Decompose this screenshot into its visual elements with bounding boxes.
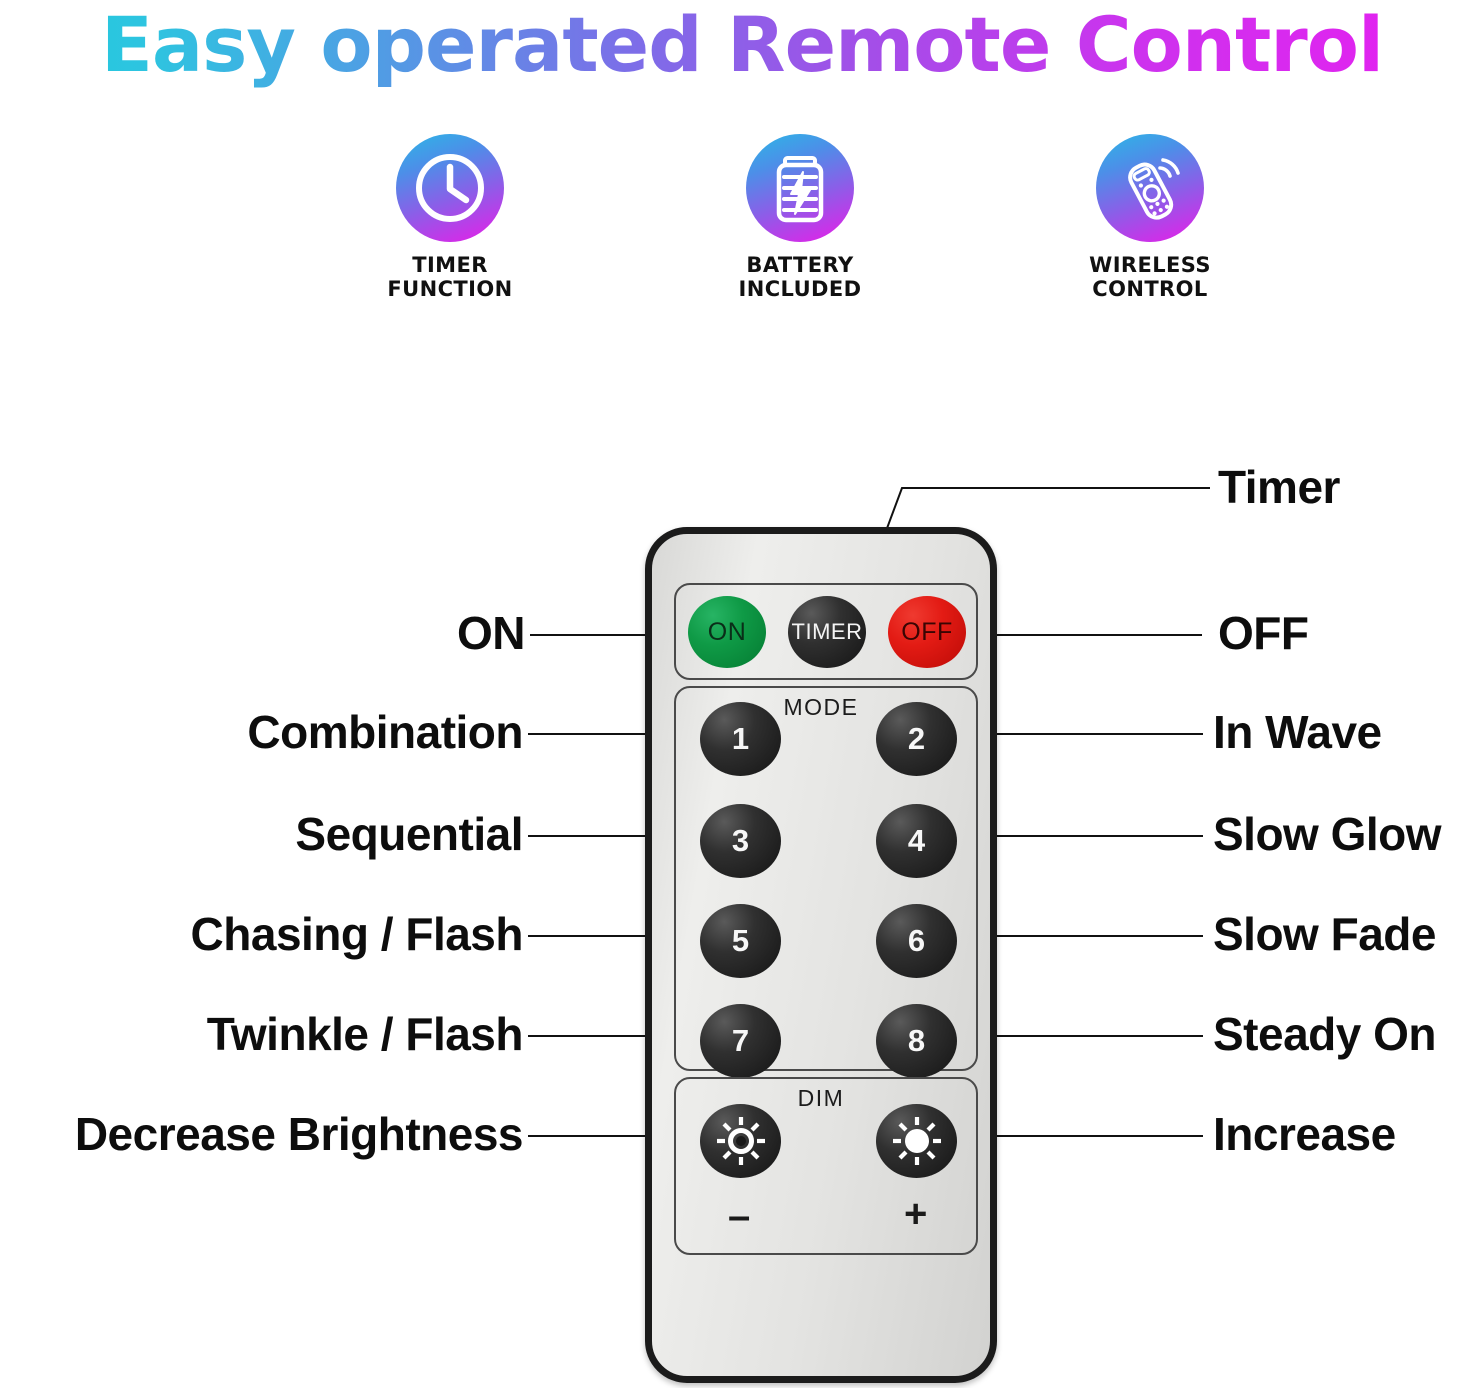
battery-icon <box>746 134 854 242</box>
mode-button-2-label: 2 <box>908 721 925 757</box>
timer-button[interactable]: TIMER <box>788 596 866 668</box>
off-button-label: OFF <box>901 618 953 647</box>
feature-timer-function: TIMER FUNCTION <box>300 134 600 319</box>
page-title: Easy operated Remote Control <box>0 2 1484 88</box>
dim-decrease-button[interactable] <box>700 1104 781 1178</box>
callout-timer: Timer <box>1218 462 1340 512</box>
feature-badges: TIMER FUNCTION BATTERY INCLUDED <box>300 134 1300 319</box>
callout-mode5: Chasing / Flash <box>0 909 523 959</box>
on-button-label: ON <box>708 618 747 647</box>
mode-button-3-label: 3 <box>732 823 749 859</box>
feature-timer-line2: FUNCTION <box>387 277 512 301</box>
callout-mode8: Steady On <box>1213 1009 1436 1059</box>
callout-mode7: Twinkle / Flash <box>0 1009 523 1059</box>
feature-timer-label: TIMER FUNCTION <box>387 253 512 301</box>
dim-plus-sign: + <box>904 1194 927 1234</box>
callout-on: ON <box>0 608 525 658</box>
mode-button-6-label: 6 <box>908 923 925 959</box>
mode-button-3[interactable]: 3 <box>700 804 781 878</box>
callout-dim-up: Increase <box>1213 1109 1396 1159</box>
off-button[interactable]: OFF <box>888 596 966 668</box>
callout-dim-down: Decrease Brightness <box>0 1109 523 1159</box>
callout-mode6: Slow Fade <box>1213 909 1436 959</box>
mode-button-1-label: 1 <box>732 721 749 757</box>
feature-battery-included: BATTERY INCLUDED <box>650 134 950 319</box>
feature-battery-label: BATTERY INCLUDED <box>739 253 862 301</box>
callout-mode3: Sequential <box>0 809 523 859</box>
mode-button-2[interactable]: 2 <box>876 702 957 776</box>
brightness-high-icon <box>891 1115 943 1167</box>
feature-wireless-control: WIRELESS CONTROL <box>1000 134 1300 319</box>
feature-wireless-line1: WIRELESS <box>1089 253 1211 277</box>
timer-button-label: TIMER <box>792 619 863 645</box>
dim-minus-sign: – <box>728 1196 750 1236</box>
mode-button-8-label: 8 <box>908 1023 925 1059</box>
feature-wireless-line2: CONTROL <box>1089 277 1211 301</box>
mode-button-4-label: 4 <box>908 823 925 859</box>
callout-mode4: Slow Glow <box>1213 809 1441 859</box>
feature-wireless-label: WIRELESS CONTROL <box>1089 253 1211 301</box>
clock-icon <box>396 134 504 242</box>
mode-button-5-label: 5 <box>732 923 749 959</box>
dim-increase-button[interactable] <box>876 1104 957 1178</box>
remote-control-body: ON TIMER OFF MODE 1 2 3 4 5 6 7 8 DIM <box>645 527 997 1383</box>
callout-mode2: In Wave <box>1213 707 1382 757</box>
brightness-low-icon <box>715 1115 767 1167</box>
feature-battery-line1: BATTERY <box>739 253 862 277</box>
remote-wireless-icon <box>1096 134 1204 242</box>
callout-off: OFF <box>1218 608 1308 658</box>
mode-button-8[interactable]: 8 <box>876 1004 957 1078</box>
mode-button-7-label: 7 <box>732 1023 749 1059</box>
feature-timer-line1: TIMER <box>387 253 512 277</box>
mode-button-4[interactable]: 4 <box>876 804 957 878</box>
on-button[interactable]: ON <box>688 596 766 668</box>
mode-button-5[interactable]: 5 <box>700 904 781 978</box>
mode-button-6[interactable]: 6 <box>876 904 957 978</box>
dim-section-title: DIM <box>652 1085 990 1112</box>
callout-mode1: Combination <box>0 707 523 757</box>
feature-battery-line2: INCLUDED <box>739 277 862 301</box>
mode-button-7[interactable]: 7 <box>700 1004 781 1078</box>
mode-button-1[interactable]: 1 <box>700 702 781 776</box>
